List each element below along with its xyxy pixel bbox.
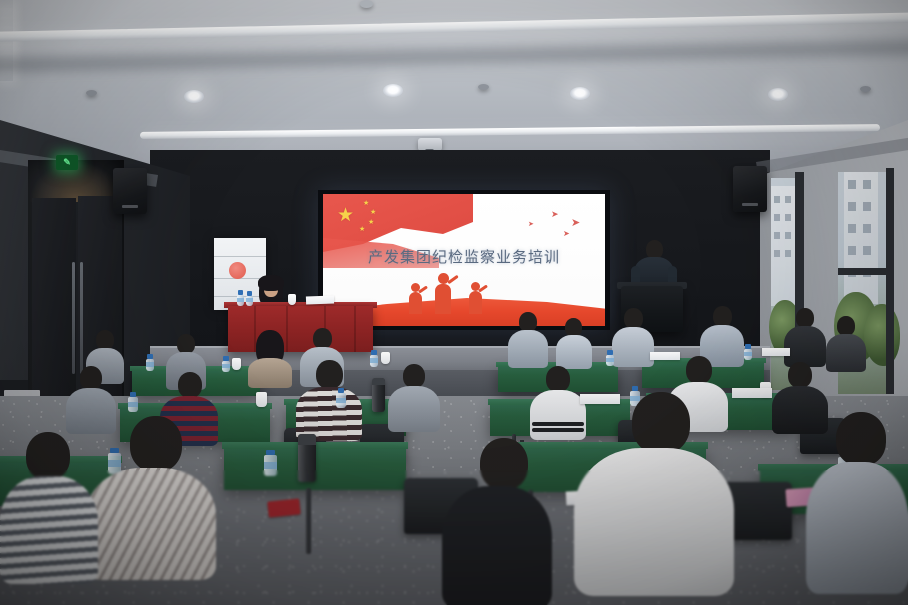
flag-small-star-icon: ★ bbox=[370, 209, 376, 216]
head bbox=[519, 312, 537, 332]
head bbox=[713, 306, 732, 327]
torso bbox=[248, 358, 292, 388]
water-bottle bbox=[146, 354, 154, 371]
document bbox=[306, 296, 334, 305]
torso bbox=[784, 326, 826, 367]
door-handle[interactable] bbox=[80, 262, 83, 374]
water-bottle bbox=[744, 344, 752, 360]
salute-silhouette bbox=[435, 284, 451, 314]
torso bbox=[574, 448, 734, 596]
torso bbox=[508, 330, 548, 368]
head bbox=[632, 392, 690, 454]
exit-sign: ✎ bbox=[56, 155, 78, 170]
paper-cup bbox=[232, 358, 241, 370]
torso bbox=[296, 387, 362, 441]
ceiling-downlight bbox=[768, 88, 788, 101]
head bbox=[80, 366, 102, 390]
water-bottle bbox=[222, 356, 230, 372]
bird-icon: ➤ bbox=[551, 210, 559, 219]
smoke-detector-icon bbox=[360, 0, 373, 8]
thermos-flask bbox=[298, 434, 316, 482]
head bbox=[177, 334, 195, 354]
attendee bbox=[508, 312, 548, 368]
ceiling-downlight bbox=[383, 84, 403, 97]
hair-front bbox=[258, 275, 284, 291]
bird-icon: ➤ bbox=[563, 230, 570, 238]
flag-small-star-icon: ★ bbox=[359, 226, 365, 233]
attendee bbox=[612, 308, 654, 366]
attendee bbox=[556, 318, 592, 368]
attendee bbox=[806, 412, 908, 592]
torso bbox=[826, 334, 866, 372]
torso bbox=[388, 386, 440, 432]
head bbox=[26, 432, 70, 480]
head bbox=[624, 308, 643, 329]
bird-icon: ➤ bbox=[528, 221, 534, 228]
red-circular-sign bbox=[229, 262, 246, 279]
water-bottle bbox=[606, 350, 614, 366]
torso bbox=[0, 476, 98, 584]
head bbox=[788, 362, 812, 388]
flag-large-star-icon: ★ bbox=[337, 206, 354, 225]
attendee bbox=[574, 392, 734, 592]
attendee bbox=[388, 364, 440, 430]
water-bottle bbox=[370, 350, 378, 367]
torso bbox=[86, 468, 216, 580]
flag-small-star-icon: ★ bbox=[368, 219, 374, 226]
torso bbox=[612, 327, 654, 367]
head bbox=[796, 308, 814, 328]
head bbox=[313, 328, 332, 349]
table-leg bbox=[306, 488, 311, 554]
ceiling-light-strip-1 bbox=[0, 12, 908, 43]
head bbox=[837, 316, 855, 336]
wall-speaker-left bbox=[113, 168, 147, 214]
water-bottle bbox=[336, 388, 346, 408]
salute-silhouette bbox=[469, 291, 482, 314]
document bbox=[732, 388, 772, 398]
head bbox=[403, 364, 425, 388]
salute-silhouette bbox=[409, 292, 422, 314]
window-transom bbox=[838, 268, 892, 275]
head bbox=[130, 416, 182, 472]
flag-small-star-icon: ★ bbox=[363, 200, 369, 207]
ceiling-downlight bbox=[570, 87, 590, 100]
thermos-flask bbox=[372, 378, 385, 412]
screen-title-text: 产发集团纪检监察业务培训 bbox=[323, 246, 605, 267]
torso bbox=[556, 335, 592, 369]
water-bottle bbox=[246, 291, 253, 306]
phone bbox=[267, 498, 300, 517]
ceiling-downlight bbox=[0, 18, 13, 27]
wall-speaker-right bbox=[733, 166, 767, 212]
head bbox=[480, 438, 528, 490]
conference-room-photo: ✎ bbox=[0, 0, 908, 605]
paper-cup bbox=[256, 392, 267, 407]
attendee bbox=[826, 316, 866, 370]
door-handle[interactable] bbox=[72, 262, 75, 374]
ceiling-downlight bbox=[0, 0, 13, 9]
smoke-detector-icon bbox=[86, 90, 97, 96]
window-frame-right bbox=[886, 168, 894, 394]
head bbox=[316, 360, 343, 389]
water-bottle bbox=[237, 290, 244, 306]
water-bottle bbox=[128, 392, 138, 412]
paper-cup bbox=[381, 352, 390, 364]
attendee bbox=[248, 330, 292, 386]
head bbox=[546, 366, 570, 392]
ceiling-downlight bbox=[0, 9, 13, 18]
head bbox=[178, 372, 202, 398]
attendee bbox=[442, 438, 552, 605]
head bbox=[686, 356, 712, 384]
ceiling-downlight bbox=[0, 72, 13, 81]
head bbox=[96, 330, 114, 350]
attendee bbox=[86, 416, 216, 576]
head bbox=[836, 412, 886, 466]
torso bbox=[442, 486, 552, 605]
attendee bbox=[296, 360, 362, 438]
smoke-detector-icon bbox=[860, 86, 871, 92]
torso bbox=[806, 462, 908, 594]
smoke-detector-icon bbox=[478, 84, 489, 90]
water-bottle bbox=[264, 450, 277, 476]
paper-cup bbox=[288, 294, 296, 305]
exit-running-man-icon: ✎ bbox=[63, 158, 71, 167]
ceiling-downlight bbox=[0, 45, 13, 54]
ceiling-light-strip-2 bbox=[140, 124, 880, 139]
document bbox=[762, 348, 790, 356]
attendee bbox=[784, 308, 826, 366]
bird-icon: ➤ bbox=[571, 218, 580, 229]
attendee bbox=[0, 432, 98, 582]
ceiling-downlight bbox=[184, 90, 204, 103]
